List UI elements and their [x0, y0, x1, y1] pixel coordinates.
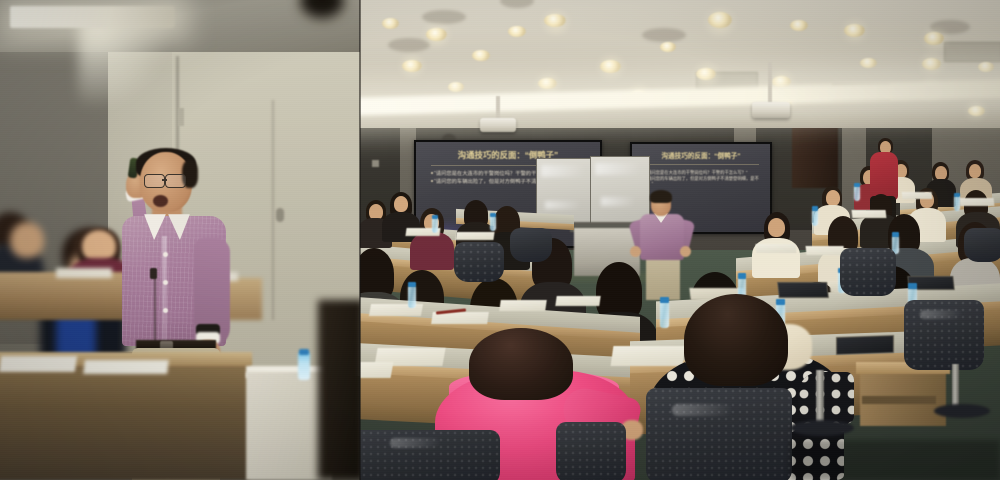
bottle-cap — [432, 215, 438, 219]
bottle-cap — [854, 183, 860, 187]
presenter-mouth — [153, 195, 168, 207]
ceiling-downlight — [790, 20, 808, 31]
bottle-cap — [908, 283, 917, 289]
door-knob — [276, 208, 284, 222]
ceiling-downlight — [538, 78, 557, 89]
ceiling-projector — [752, 102, 790, 118]
presenter-trousers — [646, 256, 680, 300]
ceiling-downlight — [844, 24, 865, 37]
student-head — [394, 196, 408, 212]
photo-composite: 沟通技巧的反面：“倒鸭子” “请问您是在大连市的干警岗位吗？干警的干怎么写？” … — [0, 0, 1000, 480]
door-latch — [178, 108, 184, 126]
notebook — [960, 198, 995, 206]
shirt-button — [163, 280, 168, 285]
pink-sweater-hair — [469, 328, 573, 400]
chair-base — [934, 404, 990, 418]
notebook-open — [360, 362, 393, 378]
left-strip-light — [10, 6, 175, 28]
ac-vent — [642, 28, 686, 42]
bottle-cap — [892, 232, 899, 237]
left-light-bloom — [78, 18, 168, 108]
notebook — [756, 244, 797, 253]
bottle-cap — [490, 213, 496, 217]
left-desk-paper — [83, 360, 168, 374]
water-bottle — [854, 186, 860, 201]
lapel-mic — [150, 268, 157, 279]
bottle-cap — [408, 282, 416, 287]
water-bottle — [954, 196, 960, 211]
presenter-hand-left — [630, 246, 641, 257]
ceiling-downlight — [508, 26, 526, 37]
chair-gas-lift — [952, 364, 959, 408]
ceiling-downlight — [968, 106, 985, 116]
ceiling-downlight — [696, 68, 716, 80]
notebook — [455, 232, 494, 240]
laptop-recess — [836, 335, 894, 355]
eyeglasses-bridge — [162, 179, 167, 181]
student-head — [969, 164, 981, 178]
ac-diffuser — [944, 42, 1000, 62]
presenter-figure-wide — [632, 190, 696, 286]
ceiling-projector — [480, 118, 516, 132]
student-head — [935, 166, 947, 180]
ceiling-downlight — [708, 12, 732, 28]
slide-bullet: “请问您是在大连市的干警岗位吗？干警的干怎么写？” — [646, 170, 748, 175]
desk-shelf — [862, 396, 936, 404]
water-bottle — [298, 352, 310, 380]
chair-mesh — [840, 248, 896, 296]
chair-mesh — [556, 422, 626, 480]
chair-mesh — [454, 242, 504, 282]
slide-bullet: “请问您的车辆出险了，但是对方倒鸭子不清楚登明细，是不是？” — [643, 176, 759, 186]
student-head — [768, 218, 785, 237]
eyeglasses-right-lens — [165, 174, 186, 188]
notebook — [852, 210, 887, 218]
projector-mount-stem — [768, 62, 772, 104]
slide-title: 沟通技巧的反面：“倒鸭子” — [640, 150, 761, 160]
student-body — [410, 232, 454, 270]
right-panel-classroom-wide: 沟通技巧的反面：“倒鸭子” “请问您是在大连市的干警岗位吗？干警的干怎么写？” … — [360, 0, 1000, 480]
water-bottle — [812, 210, 818, 226]
ceiling-downlight — [382, 18, 399, 29]
notebook — [902, 192, 933, 199]
presenter-hand-right — [680, 246, 691, 257]
left-desk-paper — [0, 356, 77, 372]
ceiling-downlight — [660, 42, 676, 52]
ceiling-downlight — [924, 32, 944, 45]
eyeglasses-left-lens — [144, 174, 165, 188]
polka-dot-student-hair — [684, 294, 788, 386]
ceiling-downlight — [426, 28, 447, 41]
ceiling-downlight — [922, 58, 941, 70]
water-bottle — [490, 216, 496, 231]
bottle-cap — [954, 193, 960, 197]
ceiling-downlight — [860, 58, 877, 68]
ac-vent — [422, 10, 466, 24]
bottle-cap — [299, 349, 309, 355]
wall-marker — [372, 160, 379, 167]
panel-seam — [359, 0, 361, 480]
bottle-cap — [738, 273, 746, 279]
water-bottle — [432, 218, 438, 233]
office-chair-back — [510, 228, 552, 262]
bg-student-head — [10, 222, 44, 258]
presenter-hair — [650, 190, 672, 203]
notebook — [806, 246, 845, 255]
chair-mesh — [646, 388, 792, 480]
door-seam-secondary — [272, 100, 274, 320]
shirt-button — [163, 252, 168, 257]
shirt-button — [163, 308, 168, 313]
notebook — [555, 296, 600, 306]
left-foreground-silhouette — [318, 300, 360, 480]
polka-dot-arm-pattern — [798, 372, 854, 424]
wall-wood-column — [792, 122, 838, 188]
ceiling-downlight — [600, 60, 621, 73]
ceiling-downlight — [448, 82, 464, 92]
office-chair-back — [964, 228, 1000, 262]
bottle-cap — [812, 206, 818, 211]
left-foreground-desk — [0, 358, 250, 480]
ceiling-downlight — [978, 62, 994, 72]
ceiling-downlight — [472, 50, 490, 61]
student-head — [826, 190, 840, 206]
lapel-mic-wire — [154, 276, 156, 346]
left-panel-presenter-closeup — [0, 0, 360, 480]
chair-base — [790, 420, 854, 436]
laptop-recess — [777, 282, 829, 298]
standing-person-red-jacket — [870, 152, 898, 200]
ceiling-downlight — [544, 14, 566, 27]
water-bottle — [408, 286, 416, 308]
ceiling-downlight — [402, 60, 422, 72]
notebook — [499, 300, 547, 311]
